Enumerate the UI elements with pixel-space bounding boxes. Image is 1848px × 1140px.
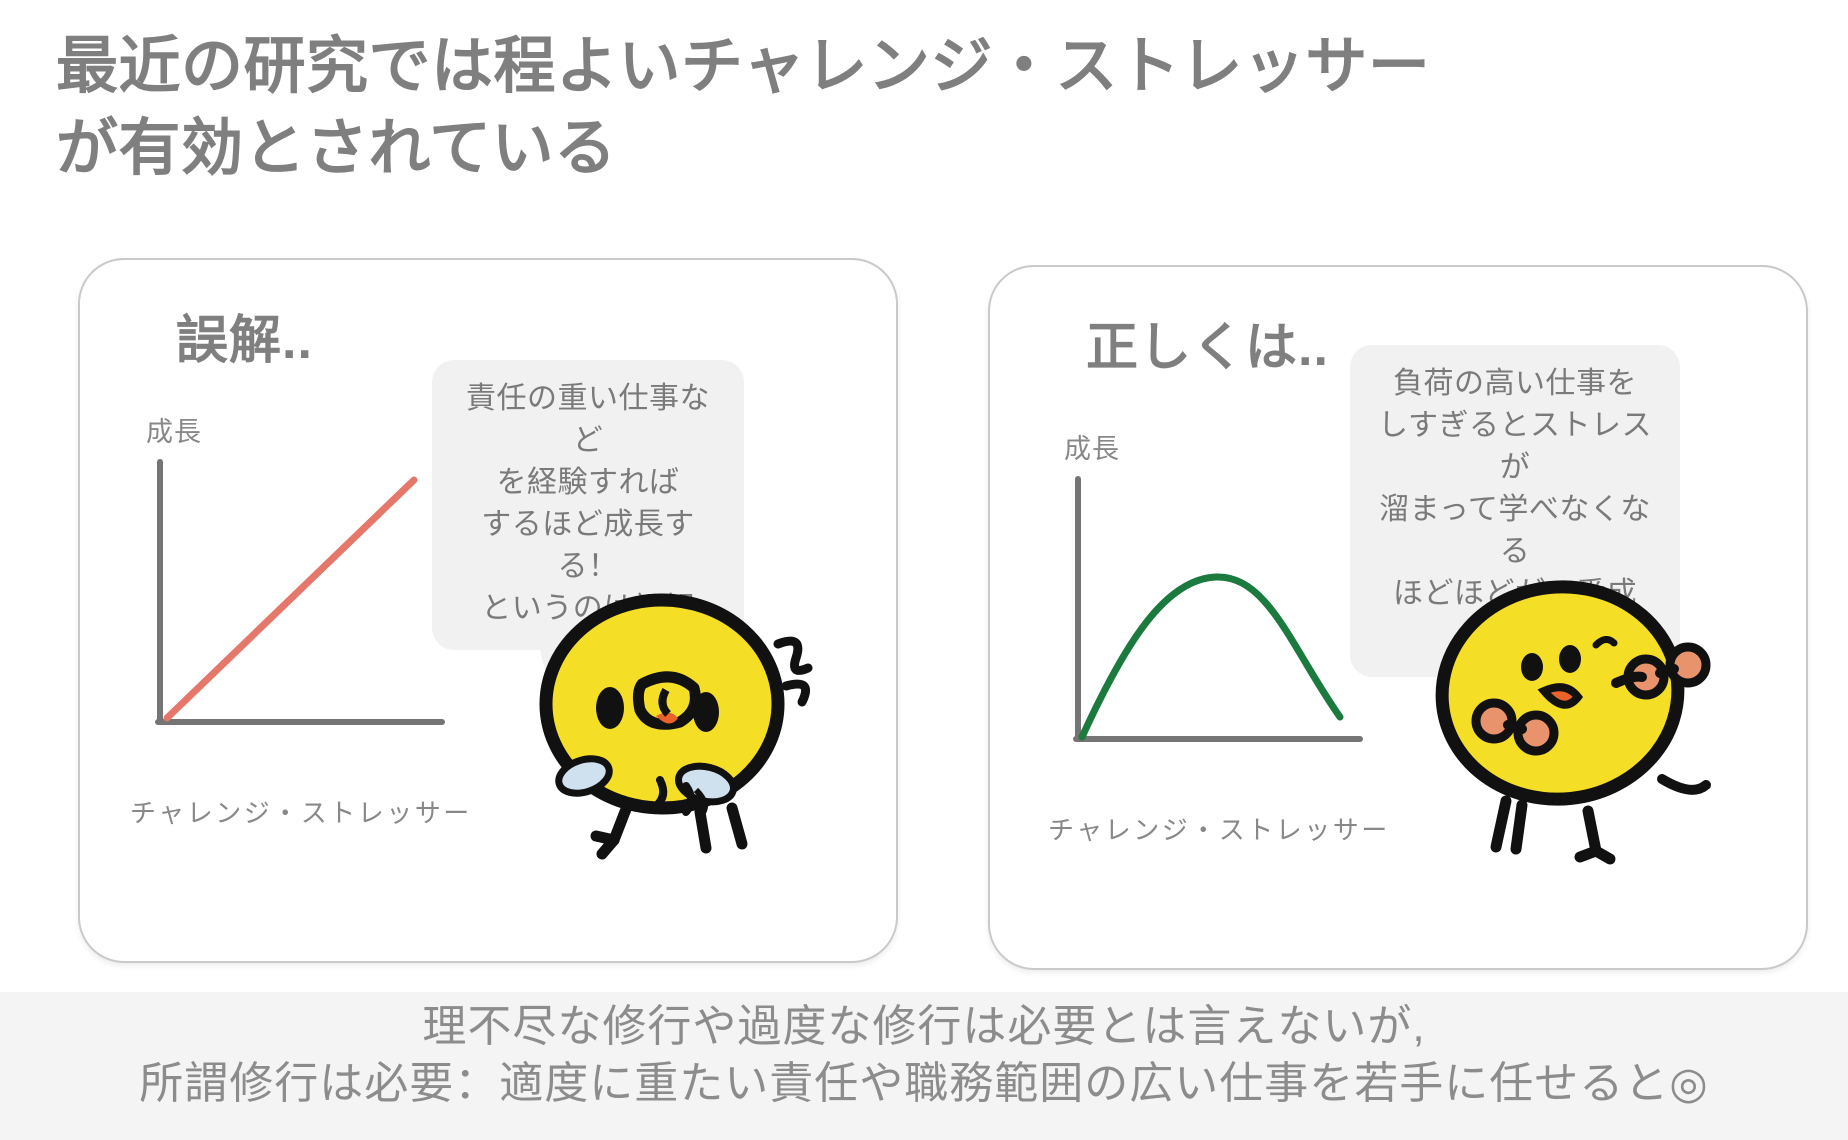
data-curve-inverted-u <box>1082 577 1340 737</box>
card-title-correct: 正しくは.. <box>1086 305 1329 380</box>
chick-tail-right <box>1662 779 1706 790</box>
slide-root: 最近の研究では程よいチャレンジ・ストレッサー が有効とされている 誤解.. 成長… <box>0 0 1848 1140</box>
chick-eye-left-1 <box>596 687 624 729</box>
y-axis-label-right: 成長 <box>1064 427 1120 466</box>
chick-svg-left <box>510 540 840 870</box>
y-axis-label-left: 成長 <box>146 410 202 449</box>
chick-eye-right-1 <box>1521 653 1543 681</box>
x-axis-label-left: チャレンジ・ストレッサー <box>130 793 472 830</box>
chick-illustration-happy <box>1410 525 1760 875</box>
caption-line-2: 所謂修行は必要：適度に重たい責任や職務範囲の広い仕事を若手に任せると◎ <box>139 1055 1708 1112</box>
page-title: 最近の研究では程よいチャレンジ・ストレッサー が有効とされている <box>56 26 1536 190</box>
card-title-misconception: 誤解.. <box>176 298 313 373</box>
chick-svg-right <box>1410 525 1760 875</box>
chick-legs-right <box>1496 801 1610 859</box>
card-correct: 正しくは.. 成長 チャレンジ・ストレッサー 負荷の高い仕事を しすぎるとストレ… <box>988 265 1808 970</box>
x-axis-label-right: チャレンジ・ストレッサー <box>1048 810 1390 847</box>
caption-band: 理不尽な修行や過度な修行は必要とは言えないが, 所謂修行は必要：適度に重たい責任… <box>0 992 1848 1140</box>
chick-eye-right-2 <box>1559 645 1581 673</box>
caption-line-1: 理不尽な修行や過度な修行は必要とは言えないが, <box>422 998 1425 1055</box>
chick-illustration-sad <box>510 540 840 870</box>
card-misconception: 誤解.. 成長 チャレンジ・ストレッサー 責任の重い仕事など を経験すれば する… <box>78 258 898 963</box>
data-line-linear <box>167 480 414 718</box>
